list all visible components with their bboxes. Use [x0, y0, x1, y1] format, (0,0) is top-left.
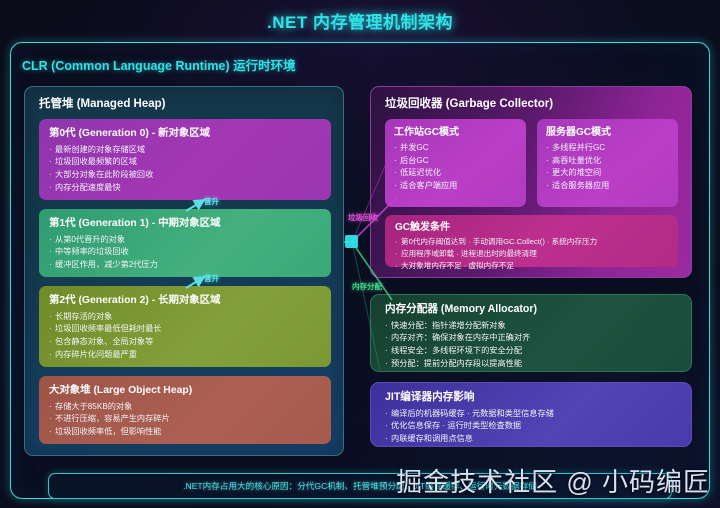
large-object-heap-title: 大对象堆 (Large Object Heap)	[49, 384, 321, 398]
workstation-gc-panel: 工作站GC模式 并发GC 后台GC 低延迟优化 适合客户端应用	[385, 119, 526, 207]
list-item: 更大的堆空间	[546, 167, 669, 180]
generation-0-panel: 第0代 (Generation 0) - 新对象区域 最新创建的对象存储区域 垃…	[39, 119, 331, 200]
large-object-heap-bullets: 存储大于85KB的对象 不进行压缩，容易产生内存碎片 垃圾回收频率低，但影响性能	[49, 401, 321, 439]
large-object-heap-panel: 大对象堆 (Large Object Heap) 存储大于85KB的对象 不进行…	[39, 376, 331, 444]
promotion-label-gen0-gen1: 晋升	[204, 196, 219, 207]
clr-label: CLR (Common Language Runtime) 运行时环境	[22, 55, 296, 74]
gc-trigger-title: GC触发条件	[395, 221, 668, 234]
generation-1-title: 第1代 (Generation 1) - 中期对象区域	[49, 217, 321, 231]
list-item: 适合客户端应用	[394, 180, 517, 193]
list-item: 从第0代晋升的对象	[49, 234, 321, 247]
list-item: 最新创建的对象存储区域	[49, 144, 321, 157]
managed-heap-title: 托管堆 (Managed Heap)	[39, 97, 166, 112]
list-item: 后台GC	[394, 155, 517, 168]
gc-trigger-bullets: 第0代内存阈值达到 · 手动调用GC.Collect() · 系统内存压力 应用…	[395, 236, 668, 271]
list-item: 高吞吐量优化	[546, 155, 669, 168]
list-item: 不进行压缩，容易产生内存碎片	[49, 413, 321, 426]
list-item: 线程安全：多线程环境下的安全分配	[385, 345, 677, 358]
list-item: 大对象堆内存不足 · 虚拟内存不足	[395, 260, 668, 272]
list-item: 包含静态对象、全局对象等	[49, 336, 321, 349]
list-item: 内存分配速度最快	[49, 182, 321, 195]
memory-allocator-panel: 内存分配器 (Memory Allocator) 快速分配：指针递增分配新对象 …	[370, 294, 692, 372]
memory-allocator-title: 内存分配器 (Memory Allocator)	[385, 303, 677, 317]
list-item: 多线程并行GC	[546, 142, 669, 155]
generation-0-title: 第0代 (Generation 0) - 新对象区域	[49, 127, 321, 141]
watermark: 掘金技术社区 @ 小码编匠	[396, 462, 710, 499]
jit-compiler-bullets: 编译后的机器码缓存 · 元数据和类型信息存储 优化信息保存 · 运行时类型检查数…	[385, 408, 677, 446]
list-item: 应用程序域卸载 · 进程退出时的最终清理	[395, 248, 668, 260]
list-item: 内存对齐：确保对象在内存中正确对齐	[385, 332, 677, 345]
garbage-collector-title: 垃圾回收器 (Garbage Collector)	[385, 97, 553, 112]
workstation-gc-bullets: 并发GC 后台GC 低延迟优化 适合客户端应用	[394, 142, 517, 193]
page-title: .NET 内存管理机制架构	[0, 8, 720, 33]
list-item: 垃圾回收频率低，但影响性能	[49, 426, 321, 439]
list-item: 内联缓存和调用点信息	[385, 433, 677, 446]
diagram-canvas: .NET 内存管理机制架构 CLR (Common Language Runti…	[0, 0, 720, 508]
generation-2-bullets: 长期存活的对象 垃圾回收频率最低但耗时最长 包含静态对象、全局对象等 内存碎片化…	[49, 311, 321, 362]
jit-compiler-panel: JIT编译器内存影响 编译后的机器码缓存 · 元数据和类型信息存储 优化信息保存…	[370, 382, 692, 447]
garbage-collector-panel: 垃圾回收器 (Garbage Collector) 工作站GC模式 并发GC 后…	[370, 86, 692, 278]
generation-1-bullets: 从第0代晋升的对象 中等频率的垃圾回收 缓冲区作用，减少第2代压力	[49, 234, 321, 272]
generation-0-bullets: 最新创建的对象存储区域 垃圾回收最频繁的区域 大部分对象在此阶段被回收 内存分配…	[49, 144, 321, 195]
list-item: 长期存活的对象	[49, 311, 321, 324]
list-item: 内存碎片化问题最严重	[49, 349, 321, 362]
list-item: 优化信息保存 · 运行时类型检查数据	[385, 420, 677, 433]
generation-2-panel: 第2代 (Generation 2) - 长期对象区域 长期存活的对象 垃圾回收…	[39, 286, 331, 367]
list-item: 缓冲区作用，减少第2代压力	[49, 259, 321, 272]
list-item: 存储大于85KB的对象	[49, 401, 321, 414]
list-item: 第0代内存阈值达到 · 手动调用GC.Collect() · 系统内存压力	[395, 236, 668, 248]
jit-compiler-title: JIT编译器内存影响	[385, 391, 677, 405]
list-item: 预分配：提前分配内存段以提高性能	[385, 358, 677, 371]
generation-2-title: 第2代 (Generation 2) - 长期对象区域	[49, 294, 321, 308]
list-item: 大部分对象在此阶段被回收	[49, 169, 321, 182]
server-gc-panel: 服务器GC模式 多线程并行GC 高吞吐量优化 更大的堆空间 适合服务器应用	[537, 119, 678, 207]
gc-flow-label: 垃圾回收	[348, 212, 378, 223]
list-item: 中等频率的垃圾回收	[49, 246, 321, 259]
list-item: 快速分配：指针递增分配新对象	[385, 320, 677, 333]
memory-allocator-bullets: 快速分配：指针递增分配新对象 内存对齐：确保对象在内存中正确对齐 线程安全：多线…	[385, 320, 677, 371]
list-item: 适合服务器应用	[546, 180, 669, 193]
server-gc-title: 服务器GC模式	[546, 126, 669, 139]
server-gc-bullets: 多线程并行GC 高吞吐量优化 更大的堆空间 适合服务器应用	[546, 142, 669, 193]
managed-heap-panel: 托管堆 (Managed Heap) 第0代 (Generation 0) - …	[24, 86, 344, 456]
generation-1-panel: 第1代 (Generation 1) - 中期对象区域 从第0代晋升的对象 中等…	[39, 209, 331, 277]
gc-trigger-panel: GC触发条件 第0代内存阈值达到 · 手动调用GC.Collect() · 系统…	[385, 215, 678, 267]
alloc-flow-label: 内存分配	[352, 281, 382, 292]
workstation-gc-title: 工作站GC模式	[394, 126, 517, 139]
promotion-label-gen1-gen2: 晋升	[204, 273, 219, 284]
list-item: 低延迟优化	[394, 167, 517, 180]
list-item: 垃圾回收频率最低但耗时最长	[49, 323, 321, 336]
list-item: 编译后的机器码缓存 · 元数据和类型信息存储	[385, 408, 677, 421]
list-item: 并发GC	[394, 142, 517, 155]
list-item: 垃圾回收最频繁的区域	[49, 156, 321, 169]
